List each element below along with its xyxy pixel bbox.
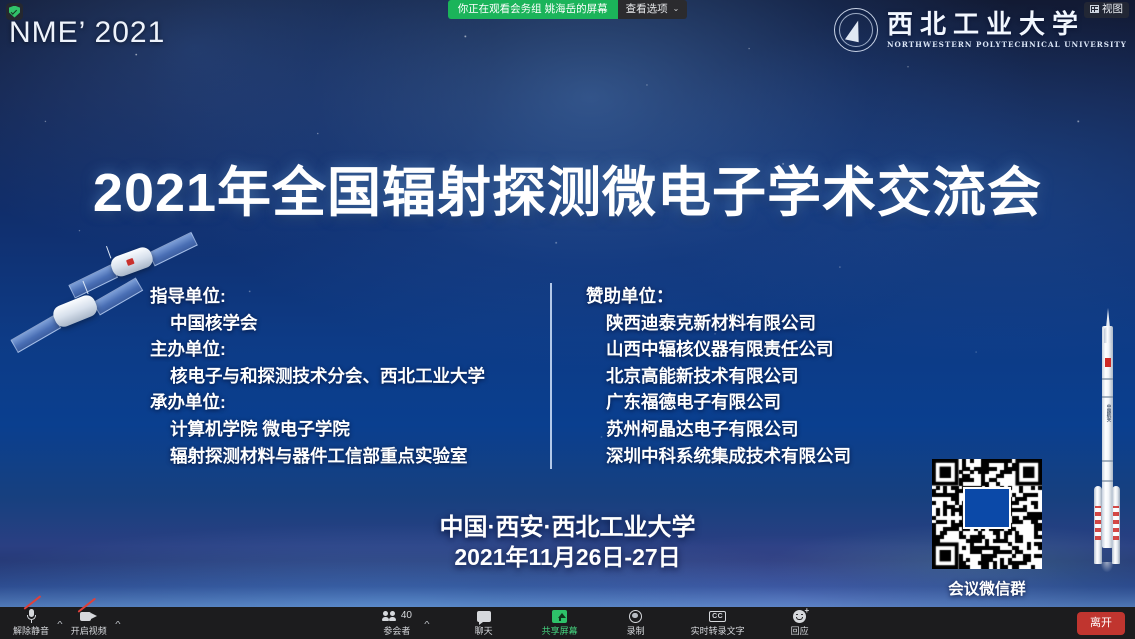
- rocket-body-label: 中国航天: [1103, 404, 1112, 422]
- participants-count: 40: [401, 611, 412, 621]
- mute-toggle-button[interactable]: 解除静音: [10, 609, 52, 638]
- live-transcript-button[interactable]: CC 实时转录文字: [691, 609, 745, 638]
- microphone-muted-icon: [27, 609, 36, 624]
- sponsor-group-head: 赞助单位：: [586, 283, 910, 310]
- view-button-label: 视图: [1102, 4, 1123, 15]
- sponsor-item: 广东福德电子有限公司: [586, 389, 910, 416]
- organizers-column: 指导单位: 中国核学会 主办单位: 核电子与和探测技术分会、西北工业大学 承办单…: [150, 283, 550, 469]
- organizers-sponsors-block: 指导单位: 中国核学会 主办单位: 核电子与和探测技术分会、西北工业大学 承办单…: [150, 283, 910, 469]
- leave-meeting-button[interactable]: 离开: [1077, 612, 1125, 635]
- organizer-item: 辐射探测材料与器件工信部重点实验室: [150, 443, 524, 470]
- share-screen-icon: [552, 609, 567, 624]
- university-name-en: NORTHWESTERN POLYTECHNICAL UNIVERSITY: [887, 41, 1127, 48]
- university-seal-icon: [834, 8, 878, 52]
- toolbar-center-group: 40 参会者 ^ 聊天 共享屏幕 录制 CC: [120, 609, 1077, 638]
- participants-icon: 40: [382, 609, 412, 624]
- wechat-group-qr-code: [932, 459, 1042, 569]
- zoom-meeting-window: NME’ 2021 西北工业大学 NORTHWESTERN POLYTECHNI…: [0, 0, 1135, 639]
- audio-options-caret[interactable]: ^: [57, 621, 62, 629]
- share-screen-label: 共享屏幕: [542, 627, 578, 636]
- sponsor-item: 山西中辐核仪器有限责任公司: [586, 336, 910, 363]
- record-icon: [629, 609, 642, 624]
- participants-group: 40 参会者 ^: [376, 609, 429, 638]
- participants-options-caret[interactable]: ^: [424, 621, 429, 629]
- sponsors-column: 赞助单位： 陕西迪泰克新材料有限公司 山西中辐核仪器有限责任公司 北京高能新技术…: [550, 283, 910, 469]
- video-toggle-label: 开启视频: [71, 627, 107, 636]
- nme-conference-logo: NME’ 2021: [9, 16, 165, 50]
- participants-button[interactable]: 40 参会者: [376, 609, 418, 638]
- wechat-group-qr-block: 会议微信群: [928, 459, 1046, 599]
- view-options-button[interactable]: 查看选项 ⌄: [618, 0, 688, 19]
- chevron-down-icon: ⌄: [673, 5, 680, 13]
- sponsor-item: 苏州柯晶达电子有限公司: [586, 416, 910, 443]
- shared-screen-slide: NME’ 2021 西北工业大学 NORTHWESTERN POLYTECHNI…: [0, 0, 1135, 607]
- view-layout-button[interactable]: 视图: [1084, 2, 1129, 18]
- toolbar-left-group: 解除静音 ^ 开启视频 ^: [0, 609, 120, 638]
- view-options-label: 查看选项: [626, 4, 668, 15]
- meeting-security-badge[interactable]: [6, 3, 23, 20]
- camera-off-icon: [80, 609, 97, 624]
- reactions-button[interactable]: + 回应: [779, 609, 821, 638]
- video-options-caret[interactable]: ^: [115, 621, 120, 629]
- organizer-item: 核电子与和探测技术分会、西北工业大学: [150, 363, 524, 390]
- closed-caption-icon: CC: [709, 609, 726, 624]
- toolbar-right-group: 离开: [1077, 612, 1135, 635]
- chat-button[interactable]: 聊天: [463, 609, 505, 638]
- grid-view-icon: [1090, 5, 1099, 13]
- organizer-item: 中国核学会: [150, 310, 524, 337]
- mute-toggle-label: 解除静音: [13, 627, 49, 636]
- sponsor-item: 深圳中科系统集成技术有限公司: [586, 443, 910, 470]
- slide-title: 2021年全国辐射探测微电子学术交流会: [0, 148, 1135, 227]
- sponsor-item: 陕西迪泰克新材料有限公司: [586, 310, 910, 337]
- organizer-group-head: 承办单位:: [150, 389, 524, 416]
- organizer-group-head: 指导单位:: [150, 283, 524, 310]
- share-status-text: 你正在观看会务组 姚海岳的屏幕: [448, 0, 618, 19]
- shield-check-icon: [9, 6, 20, 18]
- qr-center-logo: [963, 487, 1011, 529]
- share-screen-button[interactable]: 共享屏幕: [539, 609, 581, 638]
- reactions-label: 回应: [791, 627, 809, 636]
- chat-label: 聊天: [475, 627, 493, 636]
- organizer-group-head: 主办单位:: [150, 336, 524, 363]
- qr-caption: 会议微信群: [928, 577, 1046, 599]
- participants-label: 参会者: [383, 627, 410, 636]
- organizer-item: 计算机学院 微电子学院: [150, 416, 524, 443]
- video-toggle-button[interactable]: 开启视频: [68, 609, 110, 638]
- reaction-smiley-icon: +: [793, 609, 806, 624]
- live-transcript-label: 实时转录文字: [691, 627, 745, 636]
- record-button[interactable]: 录制: [615, 609, 657, 638]
- sponsor-item: 北京高能新技术有限公司: [586, 363, 910, 390]
- chat-bubble-icon: [477, 609, 491, 624]
- meeting-toolbar: 解除静音 ^ 开启视频 ^ 40: [0, 607, 1135, 639]
- record-label: 录制: [627, 627, 645, 636]
